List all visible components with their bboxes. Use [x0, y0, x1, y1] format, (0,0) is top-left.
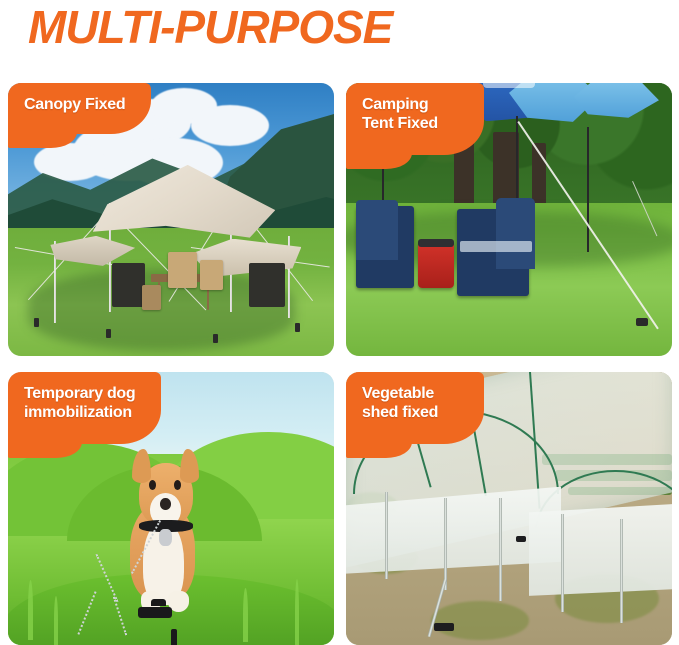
weed-patch — [431, 601, 529, 639]
ground-stake — [636, 318, 648, 326]
panel-canopy-fixed[interactable]: Canopy Fixed — [8, 83, 334, 356]
support-post — [620, 519, 623, 623]
equipment-case — [112, 263, 145, 307]
chair-armrest — [460, 241, 532, 252]
ground-anchor-head — [151, 599, 166, 606]
cloud-icon — [191, 105, 269, 146]
dog-collar-tag — [159, 529, 172, 546]
ground-stake — [106, 329, 111, 338]
panel-badge-vegetable-shed-fixed: Vegetable shed fixed — [346, 372, 484, 444]
support-post — [385, 492, 388, 579]
dog-ear-left — [132, 449, 151, 483]
panel-camping-tent-fixed[interactable]: Camping Tent Fixed — [346, 83, 672, 356]
ground-anchor-shaft — [171, 629, 177, 645]
dog-eye-left — [149, 480, 156, 490]
grass-blade — [28, 580, 33, 640]
panel-temporary-dog-immobilization[interactable]: Temporary dog immobilization — [8, 372, 334, 645]
dog-ear-right — [180, 449, 199, 483]
grass-blade — [295, 579, 299, 645]
grass-blade — [54, 596, 58, 645]
sidewall-film — [529, 503, 672, 596]
ground-stake — [34, 318, 39, 327]
ground-stake — [434, 623, 454, 631]
ground-stake — [516, 536, 526, 542]
tent-pole — [587, 127, 589, 253]
ground-stake — [295, 323, 300, 332]
folding-chair — [142, 285, 162, 310]
feature-panel-grid: Canopy Fixed — [8, 83, 672, 645]
cooler-lid — [418, 239, 454, 247]
ground-stake — [213, 334, 218, 343]
ground-anchor-stake — [138, 607, 172, 618]
page-title: MULTI-PURPOSE — [28, 0, 392, 58]
dog-eye-right — [174, 480, 181, 490]
folding-chair — [168, 252, 197, 287]
folding-chair — [200, 260, 223, 290]
support-post — [499, 498, 502, 602]
support-post — [561, 514, 564, 612]
cooler-box — [418, 241, 454, 287]
panel-vegetable-shed-fixed[interactable]: Vegetable shed fixed — [346, 372, 672, 645]
grass-blade — [243, 588, 248, 643]
dog-nose — [160, 498, 170, 510]
chair-back — [496, 198, 535, 269]
canopy-logo-band — [483, 83, 535, 88]
equipment-case — [249, 263, 285, 307]
dog-corgi — [116, 446, 220, 615]
panel-badge-camping-tent-fixed: Camping Tent Fixed — [346, 83, 484, 155]
panel-badge-canopy-fixed: Canopy Fixed — [8, 83, 151, 134]
support-post — [444, 498, 447, 591]
chair-back — [356, 200, 398, 260]
panel-badge-temporary-dog-immobilization: Temporary dog immobilization — [8, 372, 161, 444]
